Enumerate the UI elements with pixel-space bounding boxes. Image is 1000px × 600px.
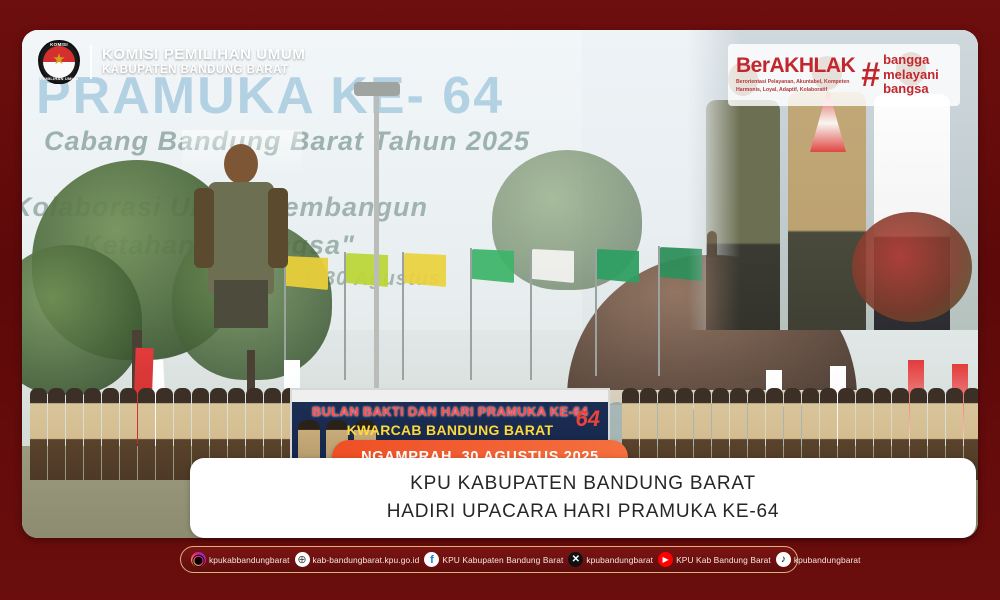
light-tower [374,88,379,388]
social-label: kpukabbandungbarat [209,555,290,565]
instagram-icon: ◉ [191,552,206,567]
berakhlak-logo: BerAKHLAK Berorientasi Pelayanan, Akunta… [728,44,960,106]
light-tower-head [354,82,400,96]
flag-pole [595,248,597,376]
globe-icon: ⊕ [295,552,310,567]
stage-banner-line1: BULAN BAKTI DAN HARI PRAMUKA KE-64 [292,404,608,419]
flag-icon [532,249,574,283]
berakhlak-tagline-1: Berorientasi Pelayanan, Akuntabel, Kompe… [736,79,854,87]
header-title-line1: KOMISI PEMILIHAN UMUM [102,46,305,63]
social-footer-bar: ◉kpukabbandungbarat⊕kab-bandungbarat.kpu… [180,546,798,573]
social-link-x-twitter[interactable]: ✕kpubandungbarat [568,552,653,567]
social-label: kpubandungbarat [794,555,861,565]
hashtag-icon: # [861,58,880,92]
social-link-instagram[interactable]: ◉kpukabbandungbarat [191,552,290,567]
youtube-icon: ▶ [658,552,673,567]
social-link-facebook[interactable]: fKPU Kabupaten Bandung Barat [424,552,563,567]
social-label: KPU Kabupaten Bandung Barat [442,555,563,565]
caption-line2: HADIRI UPACARA HARI PRAMUKA KE-64 [387,501,779,523]
flag-icon [472,249,514,283]
berakhlak-slogan-2: melayani [883,68,939,83]
garuda-icon: ★ [52,50,65,68]
shrub [852,212,972,322]
social-label: kab-bandungbarat.kpu.go.id [313,555,420,565]
x-twitter-icon: ✕ [568,552,583,567]
social-label: kpubandungbarat [586,555,653,565]
flag-pole [658,246,660,376]
social-label: KPU Kab Bandung Barat [676,555,771,565]
header-divider [90,45,92,79]
berakhlak-tagline-2: Harmonis, Loyal, Adaptif, Kolaboratif [736,87,854,95]
facebook-icon: f [424,552,439,567]
kpu-header: KOMISI ★ PEMILIHAN UMUM KOMISI PEMILIHAN… [38,40,305,84]
flag-icon [597,249,639,283]
flag-icon [404,253,446,287]
berakhlak-brand: BerAKHLAK [736,55,855,76]
berakhlak-slogan-3: bangsa [883,82,939,97]
kpu-logo-ring-bottom: PEMILIHAN UMUM [38,76,80,81]
caption-card: KPU KABUPATEN BANDUNG BARAT HADIRI UPACA… [190,458,976,538]
social-link-tiktok[interactable]: ♪kpubandungbarat [776,552,861,567]
anniversary-logo: 64 [576,406,600,432]
flag-icon [346,253,388,287]
header-title-line2: KABUPATEN BANDUNG BARAT [102,64,305,78]
social-link-youtube[interactable]: ▶KPU Kab Bandung Barat [658,552,771,567]
caption-line1: KPU KABUPATEN BANDUNG BARAT [410,473,756,495]
berakhlak-slogan-1: bangga [883,53,939,68]
kpu-logo-ring-top: KOMISI [38,42,80,47]
poster-root: PRAMUKA KE- 64 Cabang Bandung Barat Tahu… [0,0,1000,600]
inset-photo-officer [182,130,302,325]
stage-banner-line2: KWARCAB BANDUNG BARAT [292,422,608,438]
social-link-globe[interactable]: ⊕kab-bandungbarat.kpu.go.id [295,552,420,567]
kpu-logo-icon: KOMISI ★ PEMILIHAN UMUM [38,40,80,84]
tiktok-icon: ♪ [776,552,791,567]
